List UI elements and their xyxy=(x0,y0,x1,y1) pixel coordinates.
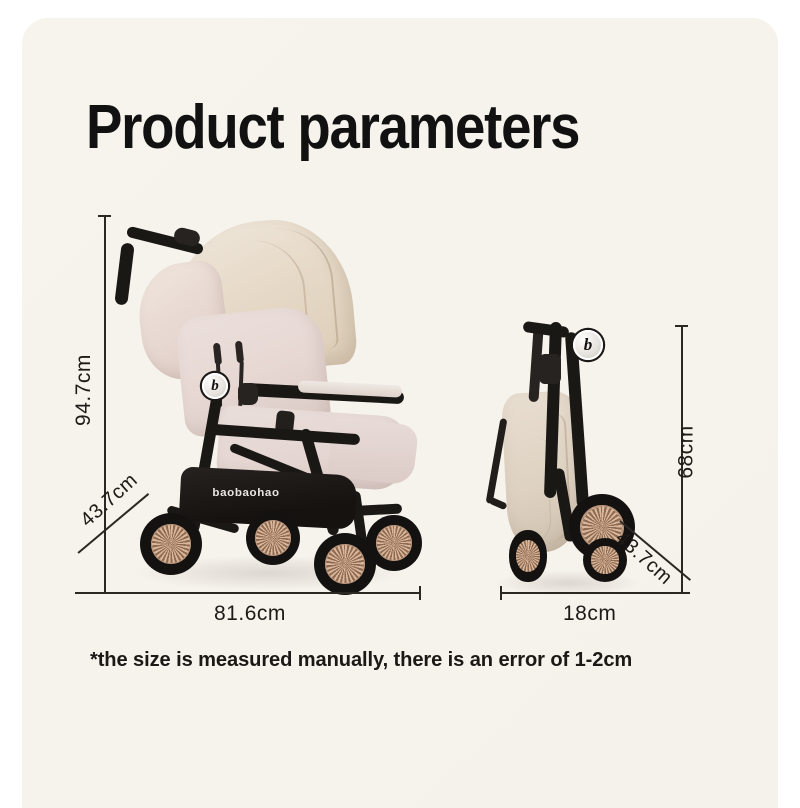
logo-letter: b xyxy=(211,378,219,395)
dimension-tick xyxy=(500,586,502,600)
dimension-tick xyxy=(419,586,421,600)
wheel-rear-far xyxy=(140,513,202,575)
dimension-tick xyxy=(98,215,111,217)
bumper-bar-mount xyxy=(238,383,258,405)
measurement-disclaimer: *the size is measured manually, there is… xyxy=(90,648,632,672)
logo-letter: b xyxy=(584,335,593,355)
dimension-line-height-open xyxy=(104,215,106,593)
wheel-front-far xyxy=(366,515,422,571)
shoulder-strap-hook xyxy=(488,497,507,511)
stroller-open-illustration: baobaohao b xyxy=(118,215,418,600)
logo-badge: b xyxy=(202,373,228,399)
page-title: Product parameters xyxy=(86,92,579,163)
folded-latch xyxy=(539,354,561,384)
folded-handle xyxy=(522,321,569,338)
dimension-label-height-folded: 68cm xyxy=(675,425,699,478)
wheel-folded-front xyxy=(509,530,547,582)
dimension-tick xyxy=(675,325,688,327)
logo-badge: b xyxy=(573,330,603,360)
dimension-line-width-folded xyxy=(500,592,690,594)
dimension-label-width-open: 81.6cm xyxy=(214,602,286,626)
handlebar-grip xyxy=(114,242,134,305)
dimension-label-height-open: 94.7cm xyxy=(72,354,96,426)
wheel-rear-near xyxy=(246,511,300,565)
dimension-label-width-folded: 18cm xyxy=(563,602,616,626)
brand-wordmark: baobaohao xyxy=(212,487,279,499)
product-parameters-page: Product parameters xyxy=(0,0,800,800)
dimension-line-width-open xyxy=(75,592,420,594)
